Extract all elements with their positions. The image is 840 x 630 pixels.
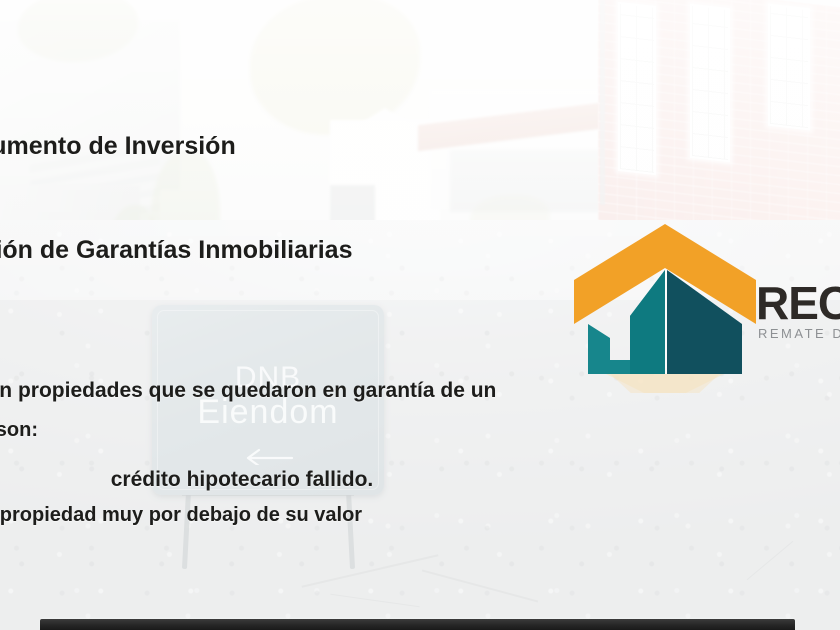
benefits-heading: ficios son: xyxy=(0,417,38,444)
slide-title-line-2: eración de Garantías Inmobiliarias xyxy=(0,233,544,268)
benefit-line-1: rir una propiedad muy por debajo de su v… xyxy=(0,501,404,530)
logo-tagline: REMATE DE H xyxy=(758,326,840,341)
slide-title: nstrumento de Inversión eración de Garan… xyxy=(0,60,544,336)
benefits-list: rir una propiedad muy por debajo de su v… xyxy=(0,443,404,630)
slide-canvas: DNB Eiendom xyxy=(0,0,840,630)
brand-logo: REC REMATE DE H xyxy=(560,218,840,423)
logo-wordmark: REC xyxy=(756,280,840,326)
bottom-dark-bar xyxy=(40,619,795,630)
house-chevron-logo-icon xyxy=(570,218,760,393)
slide-title-line-1: nstrumento de Inversión xyxy=(0,129,544,164)
benefit-line-2: rcial. xyxy=(0,588,404,617)
slide-lead-line-1: en propiedades que se quedaron en garant… xyxy=(0,376,562,406)
